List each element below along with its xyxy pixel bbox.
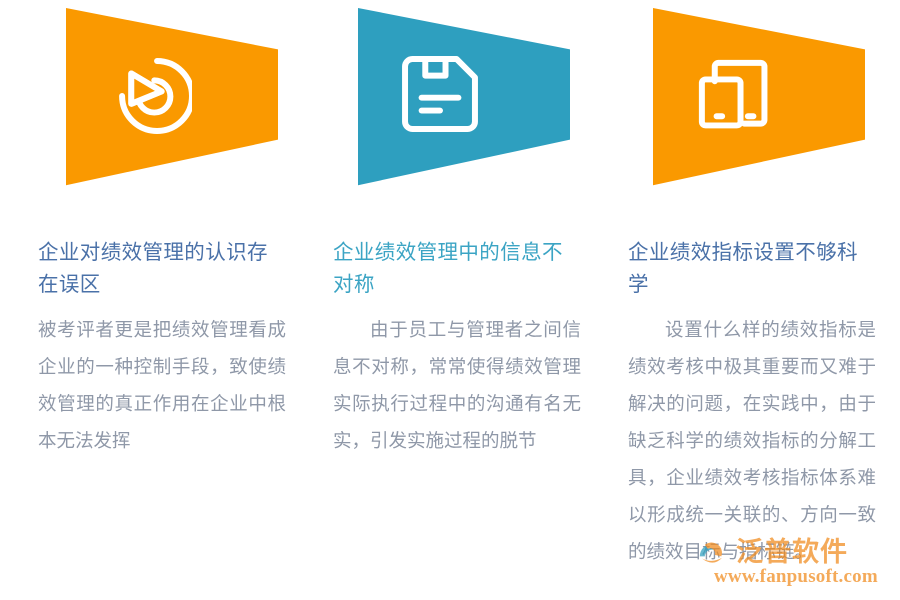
card-title-wrap-1: 企业对绩效管理的认识存在误区: [38, 237, 290, 305]
card-title-wrap-3: 企业绩效指标设置不够科学: [628, 237, 880, 305]
card-2: 企业绩效管理中的信息不对称 由于员工与管理者之间信息不对称，常常使得绩效管理实际…: [295, 0, 585, 600]
card-body-1: 被考评者更是把绩效管理看成企业的一种控制手段，致使绩效管理的真正作用在企业中根本…: [38, 313, 286, 461]
card-body-wrap-2: 由于员工与管理者之间信息不对称，常常使得绩效管理实际执行过程中的沟通有名无实，引…: [333, 313, 585, 461]
icon-panel-2: [358, 0, 570, 190]
card-body-wrap-1: 被考评者更是把绩效管理看成企业的一种控制手段，致使绩效管理的真正作用在企业中根本…: [38, 313, 290, 461]
card-title-2: 企业绩效管理中的信息不对称: [333, 237, 578, 301]
card-body-2: 由于员工与管理者之间信息不对称，常常使得绩效管理实际执行过程中的沟通有名无实，引…: [333, 313, 581, 461]
card-body-3: 设置什么样的绩效指标是绩效考核中极其重要而又难于解决的问题，在实践中，由于缺乏科…: [628, 313, 876, 572]
card-body-wrap-3: 设置什么样的绩效指标是绩效考核中极其重要而又难于解决的问题，在实践中，由于缺乏科…: [628, 313, 880, 572]
icon-panel-3: [653, 0, 865, 190]
icon-panel-1: [66, 0, 278, 190]
card-title-wrap-2: 企业绩效管理中的信息不对称: [333, 237, 585, 305]
card-title-3: 企业绩效指标设置不够科学: [628, 237, 873, 301]
devices-tablet-phone-icon: [689, 50, 781, 142]
document-save-icon: [394, 48, 486, 140]
infographic-board: 企业对绩效管理的认识存在误区 被考评者更是把绩效管理看成企业的一种控制手段，致使…: [0, 0, 900, 600]
cards-row: 企业对绩效管理的认识存在误区 被考评者更是把绩效管理看成企业的一种控制手段，致使…: [0, 0, 900, 600]
card-3: 企业绩效指标设置不够科学 设置什么样的绩效指标是绩效考核中极其重要而又难于解决的…: [590, 0, 880, 600]
card-1: 企业对绩效管理的认识存在误区 被考评者更是把绩效管理看成企业的一种控制手段，致使…: [0, 0, 290, 600]
card-title-1: 企业对绩效管理的认识存在误区: [38, 237, 283, 301]
radar-play-icon: [100, 50, 192, 142]
